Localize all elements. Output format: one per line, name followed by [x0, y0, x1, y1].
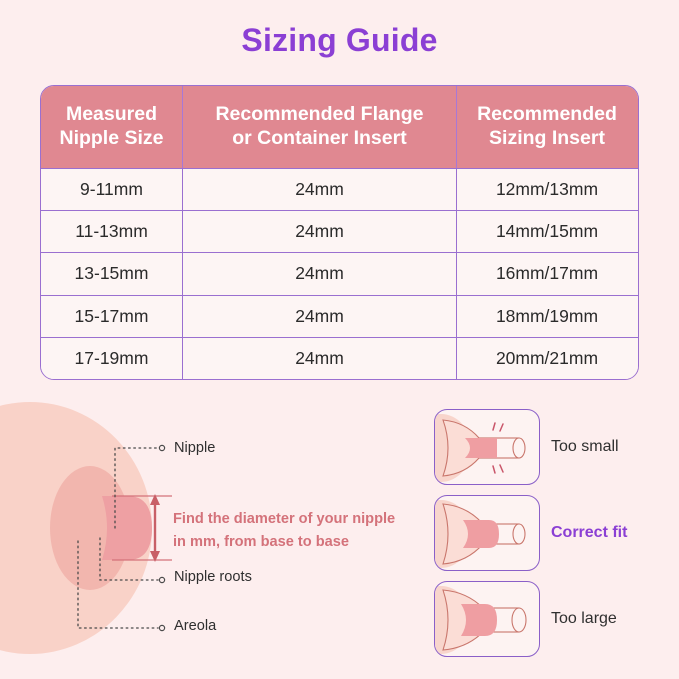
- column-header-line-1: Recommended: [477, 103, 617, 125]
- tunnel-opening: [513, 438, 525, 458]
- cell-measured-nipple-size: 13-15mm: [41, 253, 182, 294]
- fit-card-correct-fit: [434, 495, 540, 571]
- anatomy-label-areola: Areola: [174, 618, 216, 634]
- cell-recommended-flange: 24mm: [182, 296, 456, 337]
- anatomy-label-nipple-roots: Nipple roots: [174, 569, 252, 585]
- tunnel-opening: [513, 524, 525, 544]
- cell-measured-nipple-size: 11-13mm: [41, 211, 182, 252]
- cell-recommended-sizing-insert: 20mm/21mm: [456, 338, 637, 379]
- leader-dot-nipple-roots: [159, 577, 164, 582]
- cell-measured-nipple-size: 9-11mm: [41, 169, 182, 210]
- cell-measured-nipple-size: 17-19mm: [41, 338, 182, 379]
- column-header-line-2: or Container Insert: [232, 127, 406, 149]
- leader-dot-nipple: [159, 445, 164, 450]
- leader-dot-areola: [159, 625, 164, 630]
- column-header-line-2: Sizing Insert: [489, 127, 605, 149]
- cell-recommended-sizing-insert: 16mm/17mm: [456, 253, 637, 294]
- column-header-measured-nipple-size: Measured Nipple Size: [41, 86, 182, 168]
- table-row: 17-19mm 24mm 20mm/21mm: [41, 337, 638, 379]
- cell-recommended-sizing-insert: 18mm/19mm: [456, 296, 637, 337]
- nipple-shape: [102, 496, 152, 560]
- fit-card-too-large: [434, 581, 540, 657]
- measurement-instruction: Find the diameter of your nipple in mm, …: [173, 508, 423, 553]
- table-row: 11-13mm 24mm 14mm/15mm: [41, 210, 638, 252]
- fit-label-correct-fit: Correct fit: [551, 524, 627, 542]
- column-header-recommended-sizing-insert: Recommended Sizing Insert: [456, 86, 637, 168]
- page-title: Sizing Guide: [0, 22, 679, 59]
- cell-recommended-flange: 24mm: [182, 211, 456, 252]
- table-row: 9-11mm 24mm 12mm/13mm: [41, 168, 638, 210]
- cell-recommended-flange: 24mm: [182, 338, 456, 379]
- measurement-instruction-line-1: Find the diameter of your nipple: [173, 508, 423, 531]
- fit-label-too-large: Too large: [551, 610, 617, 628]
- fit-label-too-small: Too small: [551, 438, 619, 456]
- column-header-line-1: Recommended Flange: [215, 103, 423, 125]
- table-row: 15-17mm 24mm 18mm/19mm: [41, 295, 638, 337]
- cell-recommended-sizing-insert: 12mm/13mm: [456, 169, 637, 210]
- sizing-table: Measured Nipple Size Recommended Flange …: [40, 85, 639, 380]
- measurement-instruction-line-2: in mm, from base to base: [173, 531, 423, 554]
- cell-recommended-sizing-insert: 14mm/15mm: [456, 211, 637, 252]
- nipple-in-flange: [463, 520, 499, 548]
- cell-measured-nipple-size: 15-17mm: [41, 296, 182, 337]
- table-header-row: Measured Nipple Size Recommended Flange …: [41, 86, 638, 168]
- column-header-recommended-flange: Recommended Flange or Container Insert: [182, 86, 456, 168]
- column-header-line-2: Nipple Size: [59, 127, 163, 149]
- column-header-line-1: Measured: [66, 103, 157, 125]
- anatomy-label-nipple: Nipple: [174, 440, 215, 456]
- cell-recommended-flange: 24mm: [182, 169, 456, 210]
- table-row: 13-15mm 24mm 16mm/17mm: [41, 252, 638, 294]
- cell-recommended-flange: 24mm: [182, 253, 456, 294]
- tunnel-opening: [512, 608, 526, 632]
- fit-card-too-small: [434, 409, 540, 485]
- nipple-in-flange: [461, 604, 497, 636]
